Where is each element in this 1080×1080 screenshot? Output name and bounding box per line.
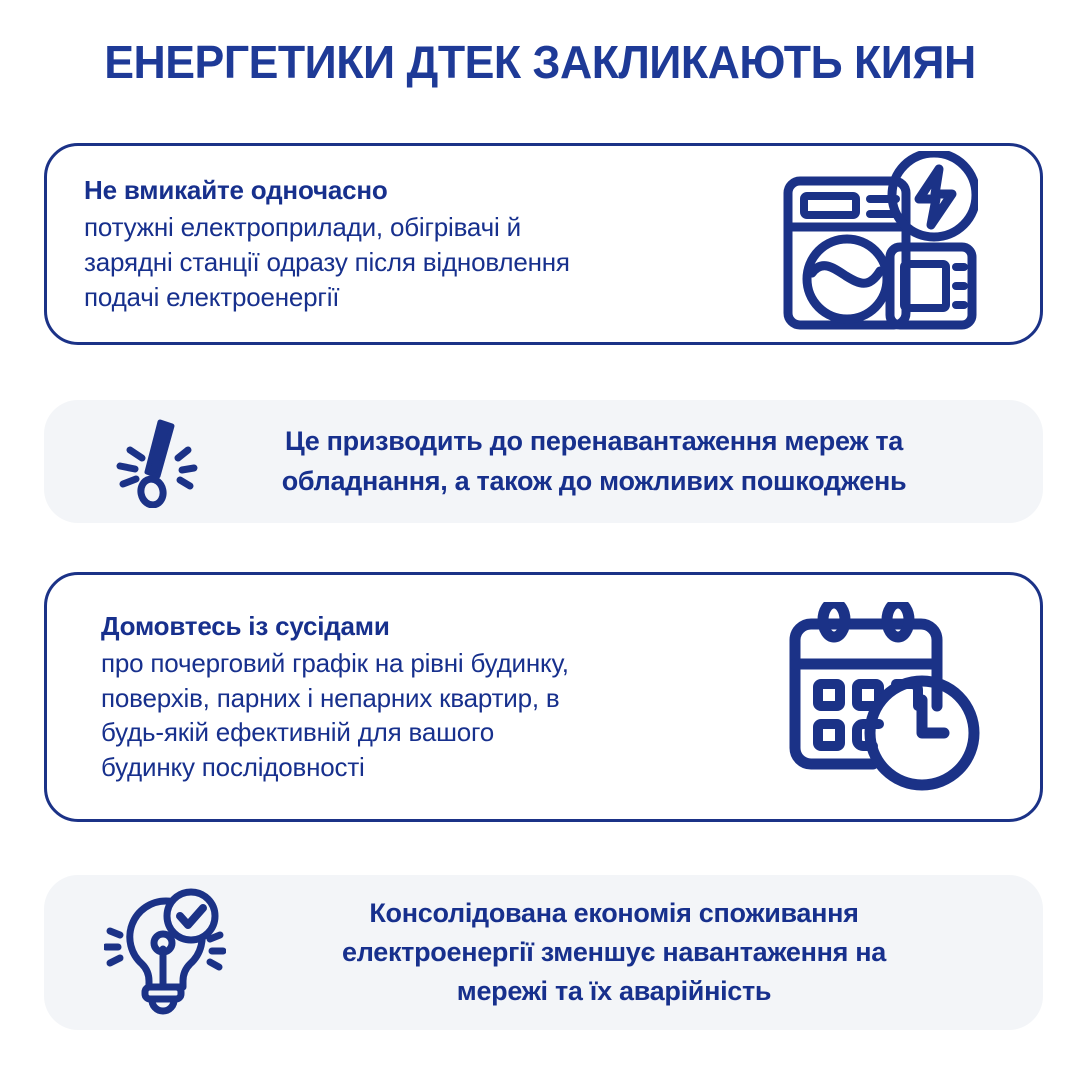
card-overload: Це призводить до перенавантаження мереж … <box>44 400 1043 523</box>
card-overload-line-2: обладнання, а також до можливих пошкодже… <box>194 462 994 501</box>
card-neighbours: Домовтесь із сусідами про почерговий гра… <box>44 572 1043 822</box>
calendar-clock-icon <box>785 602 985 792</box>
card-neighbours-line-4: будинку послідовності <box>101 750 781 785</box>
card-saving: Консолідована економія споживання електр… <box>44 875 1043 1030</box>
card-appliances-line-3: подачі електроенергії <box>84 280 764 315</box>
card-neighbours-text: Домовтесь із сусідами про почерговий гра… <box>101 609 781 785</box>
card-neighbours-lead: Домовтесь із сусідами <box>101 609 781 644</box>
card-appliances-line-2: зарядні станції одразу після відновлення <box>84 245 764 280</box>
card-overload-text: Це призводить до перенавантаження мереж … <box>194 422 994 500</box>
card-neighbours-line-1: про почерговий графік на рівні будинку, <box>101 646 781 681</box>
lightbulb-check-icon <box>104 887 226 1019</box>
infographic-page: ЕНЕРГЕТИКИ ДТЕК ЗАКЛИКАЮТЬ КИЯН Не вмика… <box>0 0 1080 1080</box>
card-appliances-lead: Не вмикайте одночасно <box>84 173 764 208</box>
page-title: ЕНЕРГЕТИКИ ДТЕК ЗАКЛИКАЮТЬ КИЯН <box>16 38 1064 86</box>
card-neighbours-line-2: поверхів, парних і непарних квартир, в <box>101 681 781 716</box>
card-appliances-line-1: потужні електроприлади, обігрівачі й <box>84 210 764 245</box>
exclamation-mark-icon <box>110 416 202 508</box>
card-saving-line-2: електроенергії зменшує навантаження на <box>234 933 994 972</box>
card-saving-line-1: Консолідована економія споживання <box>234 894 994 933</box>
card-neighbours-line-3: будь-якій ефективній для вашого <box>101 715 781 750</box>
card-saving-text: Консолідована економія споживання електр… <box>234 894 994 1011</box>
card-overload-line-1: Це призводить до перенавантаження мереж … <box>194 422 994 461</box>
card-appliances-text: Не вмикайте одночасно потужні електропри… <box>84 173 764 314</box>
card-saving-line-3: мережі та їх аварійність <box>234 972 994 1011</box>
card-appliances: Не вмикайте одночасно потужні електропри… <box>44 143 1043 345</box>
washing-machine-microwave-power-icon <box>772 151 978 337</box>
